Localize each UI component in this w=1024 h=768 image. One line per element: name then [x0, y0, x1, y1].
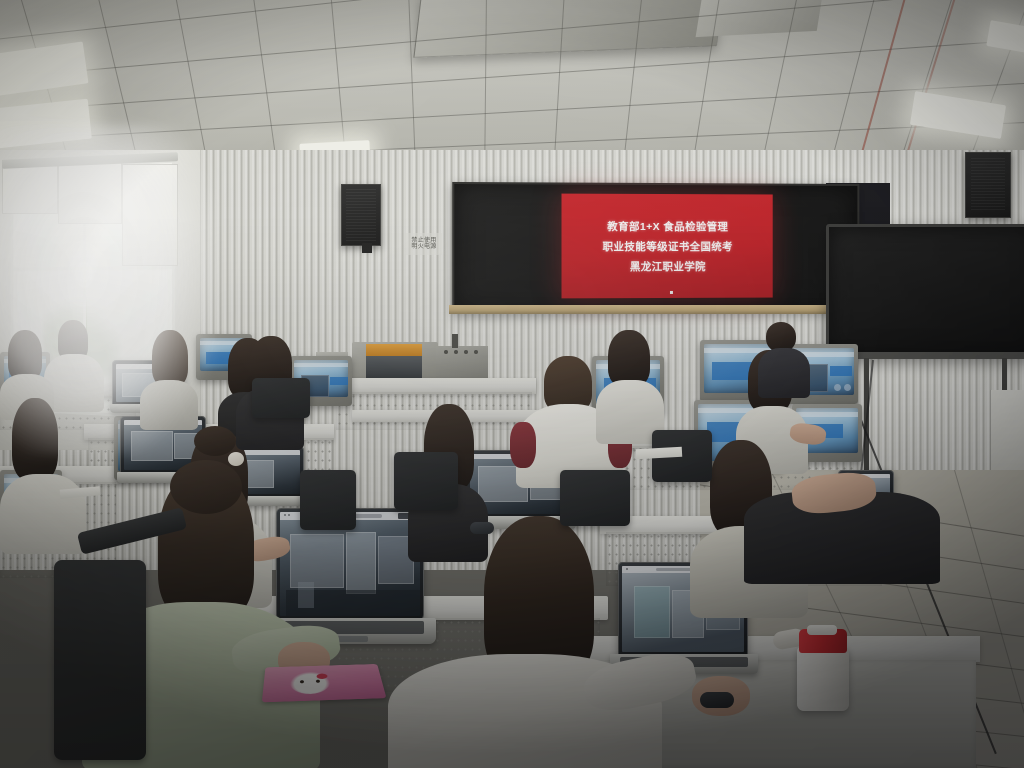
wall-safety-sign: 禁止使用 明火电源 [406, 233, 442, 255]
laboratory-analyzer-instrument [352, 336, 488, 380]
office-chair-back[interactable] [252, 378, 310, 418]
roller-blind[interactable] [58, 162, 122, 224]
student-right-mid-1 [596, 330, 666, 440]
classroom-blackboard: 教育部1+X 食品检验管理 职业技能等级证书全国统考 黑龙江职业学院 [452, 182, 859, 314]
ceiling-light-panel [0, 99, 92, 150]
slide-line-2: 职业技能等级证书全国统考 [602, 238, 732, 253]
insulated-water-bottle[interactable] [797, 625, 849, 711]
cartoon-cat-mousepad[interactable] [262, 664, 387, 702]
student-front-white-jacket [388, 516, 668, 768]
wall-speaker-left [341, 184, 381, 246]
wall-speaker-right [965, 152, 1011, 218]
student-right-back [758, 322, 810, 392]
roller-blind[interactable] [122, 164, 178, 266]
student-back-left-3 [140, 330, 200, 426]
display-stand-bar [830, 352, 1024, 359]
slide-line-3: 黑龙江职业学院 [630, 258, 706, 273]
ceiling-grid-line [0, 81, 1024, 143]
cat-face-graphic [290, 671, 332, 695]
computer-mouse-center[interactable] [470, 522, 494, 534]
ceiling-light-panel [0, 42, 88, 97]
speaker-left-bracket [362, 243, 372, 253]
computer-mouse-front[interactable] [700, 692, 734, 708]
slide-line-1: 教育部1+X 食品检验管理 [607, 218, 728, 233]
ceiling-light-panel [986, 20, 1024, 58]
slide-corner-marker [670, 291, 673, 294]
classroom-photo: 禁止使用 明火电源 教育部1+X 食品检验管理 职业技能等级证书全国统考 黑龙江… [0, 0, 1024, 768]
office-chair-mid[interactable] [560, 470, 630, 526]
student-left-mid-1 [0, 398, 90, 548]
interactive-flat-panel-display[interactable] [826, 224, 1024, 356]
office-chair-center-2[interactable] [394, 452, 458, 510]
student-right-foreground [744, 492, 944, 622]
office-chair-left[interactable] [54, 560, 146, 760]
wall-sign-line-2: 明火电源 [411, 244, 436, 250]
ceiling-air-vent [413, 0, 724, 58]
blackboard-chalk-ledge [449, 305, 860, 314]
office-chair-center[interactable] [300, 470, 356, 530]
projection-slide: 教育部1+X 食品检验管理 职业技能等级证书全国统考 黑龙江职业学院 [562, 194, 773, 299]
